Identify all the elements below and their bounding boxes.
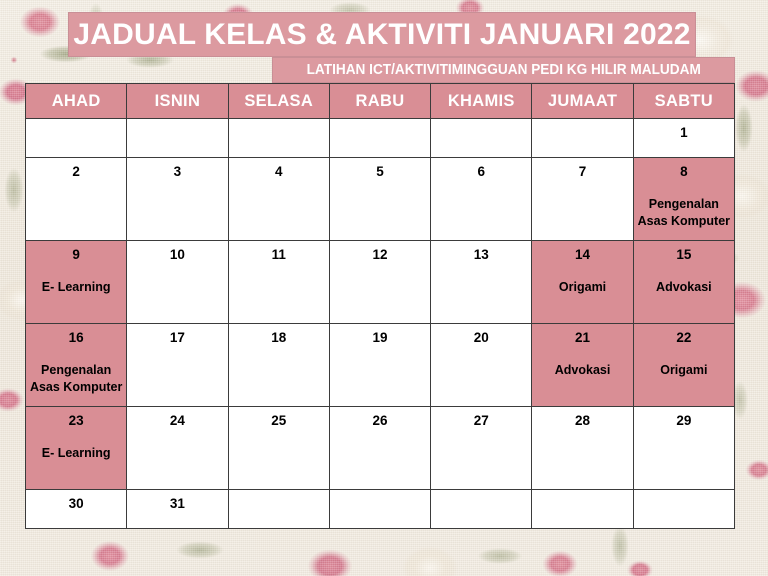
day-number: 31 — [127, 497, 227, 512]
calendar-day-cell[interactable]: 27 — [431, 407, 532, 490]
calendar-day-cell[interactable]: 30 — [26, 490, 127, 529]
calendar-day-cell[interactable]: 24 — [127, 407, 228, 490]
calendar-day-cell[interactable]: 26 — [329, 407, 430, 490]
calendar-cell-empty — [532, 490, 633, 529]
day-number: 11 — [229, 248, 329, 263]
day-number: 6 — [431, 165, 531, 180]
calendar-day-cell[interactable]: 19 — [329, 324, 430, 407]
calendar-day-cell[interactable]: 15Advokasi — [633, 241, 734, 324]
calendar-week-row: 3031 — [26, 490, 735, 529]
day-name-header-khamis: KHAMIS — [431, 84, 532, 119]
calendar-day-cell[interactable]: 16Pengenalan Asas Komputer — [26, 324, 127, 407]
page-title: JADUAL KELAS & AKTIVITI JANUARI 2022 — [73, 20, 690, 50]
day-event-label: Advokasi — [634, 279, 734, 296]
calendar-day-cell[interactable]: 13 — [431, 241, 532, 324]
calendar-day-cell[interactable]: 4 — [228, 158, 329, 241]
calendar-day-cell[interactable]: 21Advokasi — [532, 324, 633, 407]
calendar-day-cell[interactable]: 1 — [633, 119, 734, 158]
calendar-day-cell[interactable]: 14Origami — [532, 241, 633, 324]
day-number: 19 — [330, 331, 430, 346]
day-name-header-selasa: SELASA — [228, 84, 329, 119]
calendar-day-cell[interactable]: 2 — [26, 158, 127, 241]
day-number: 12 — [330, 248, 430, 263]
calendar-week-row: 9E- Learning1011121314Origami15Advokasi — [26, 241, 735, 324]
calendar-cell-empty — [329, 490, 430, 529]
day-name-header-ahad: AHAD — [26, 84, 127, 119]
title-banner: JADUAL KELAS & AKTIVITI JANUARI 2022 — [68, 12, 696, 57]
calendar-day-cell[interactable]: 29 — [633, 407, 734, 490]
day-number: 9 — [26, 248, 126, 263]
day-event-label: Origami — [532, 279, 632, 296]
day-number: 23 — [26, 414, 126, 429]
calendar-cell-empty — [431, 490, 532, 529]
calendar-header-row: AHADISNINSELASARABUKHAMISJUMAATSABTU — [26, 84, 735, 119]
day-name-header-jumaat: JUMAAT — [532, 84, 633, 119]
day-event-label: Advokasi — [532, 362, 632, 379]
day-event-label: Pengenalan Asas Komputer — [634, 196, 734, 230]
day-number: 16 — [26, 331, 126, 346]
calendar-day-cell[interactable]: 3 — [127, 158, 228, 241]
calendar-cell-empty — [532, 119, 633, 158]
day-number: 24 — [127, 414, 227, 429]
day-number: 1 — [634, 126, 734, 141]
day-name-header-isnin: ISNIN — [127, 84, 228, 119]
calendar-cell-empty — [26, 119, 127, 158]
day-number: 30 — [26, 497, 126, 512]
day-number: 18 — [229, 331, 329, 346]
day-number: 3 — [127, 165, 227, 180]
day-number: 10 — [127, 248, 227, 263]
day-number: 5 — [330, 165, 430, 180]
calendar-week-row: 16Pengenalan Asas Komputer1718192021Advo… — [26, 324, 735, 407]
day-number: 14 — [532, 248, 632, 263]
calendar-day-cell[interactable]: 22Origami — [633, 324, 734, 407]
day-number: 15 — [634, 248, 734, 263]
day-number: 27 — [431, 414, 531, 429]
calendar-cell-empty — [228, 490, 329, 529]
day-event-label: E- Learning — [26, 445, 126, 462]
calendar-day-cell[interactable]: 20 — [431, 324, 532, 407]
day-number: 17 — [127, 331, 227, 346]
calendar-day-cell[interactable]: 7 — [532, 158, 633, 241]
calendar-day-cell[interactable]: 9E- Learning — [26, 241, 127, 324]
calendar-day-cell[interactable]: 18 — [228, 324, 329, 407]
day-number: 7 — [532, 165, 632, 180]
day-number: 25 — [229, 414, 329, 429]
day-event-label: Pengenalan Asas Komputer — [26, 362, 126, 396]
calendar-day-cell[interactable]: 17 — [127, 324, 228, 407]
calendar-cell-empty — [329, 119, 430, 158]
calendar-day-cell[interactable]: 28 — [532, 407, 633, 490]
page-subtitle: LATIHAN ICT/AKTIVITIMINGGUAN PEDI KG HIL… — [306, 63, 700, 78]
day-number: 4 — [229, 165, 329, 180]
calendar-cell-empty — [633, 490, 734, 529]
day-number: 8 — [634, 165, 734, 180]
calendar-week-row: 23E- Learning242526272829 — [26, 407, 735, 490]
day-number: 26 — [330, 414, 430, 429]
calendar-week-row: 1 — [26, 119, 735, 158]
calendar-cell-empty — [127, 119, 228, 158]
day-event-label: E- Learning — [26, 279, 126, 296]
calendar-day-cell[interactable]: 6 — [431, 158, 532, 241]
day-number: 29 — [634, 414, 734, 429]
calendar-table: AHADISNINSELASARABUKHAMISJUMAATSABTU 123… — [25, 83, 735, 529]
day-number: 20 — [431, 331, 531, 346]
day-event-label: Origami — [634, 362, 734, 379]
day-number: 22 — [634, 331, 734, 346]
calendar-cell-empty — [431, 119, 532, 158]
calendar-cell-empty — [228, 119, 329, 158]
day-number: 28 — [532, 414, 632, 429]
day-name-header-rabu: RABU — [329, 84, 430, 119]
day-name-header-row: AHADISNINSELASARABUKHAMISJUMAATSABTU — [26, 84, 735, 119]
day-number: 21 — [532, 331, 632, 346]
calendar-day-cell[interactable]: 25 — [228, 407, 329, 490]
calendar-week-row: 2345678Pengenalan Asas Komputer — [26, 158, 735, 241]
day-number: 13 — [431, 248, 531, 263]
day-number: 2 — [26, 165, 126, 180]
calendar-day-cell[interactable]: 8Pengenalan Asas Komputer — [633, 158, 734, 241]
calendar-day-cell[interactable]: 12 — [329, 241, 430, 324]
calendar-day-cell[interactable]: 31 — [127, 490, 228, 529]
calendar-day-cell[interactable]: 23E- Learning — [26, 407, 127, 490]
calendar-body: 12345678Pengenalan Asas Komputer9E- Lear… — [26, 119, 735, 529]
day-name-header-sabtu: SABTU — [633, 84, 734, 119]
subtitle-banner: LATIHAN ICT/AKTIVITIMINGGUAN PEDI KG HIL… — [272, 57, 735, 83]
calendar-day-cell[interactable]: 11 — [228, 241, 329, 324]
calendar-day-cell[interactable]: 5 — [329, 158, 430, 241]
calendar-day-cell[interactable]: 10 — [127, 241, 228, 324]
